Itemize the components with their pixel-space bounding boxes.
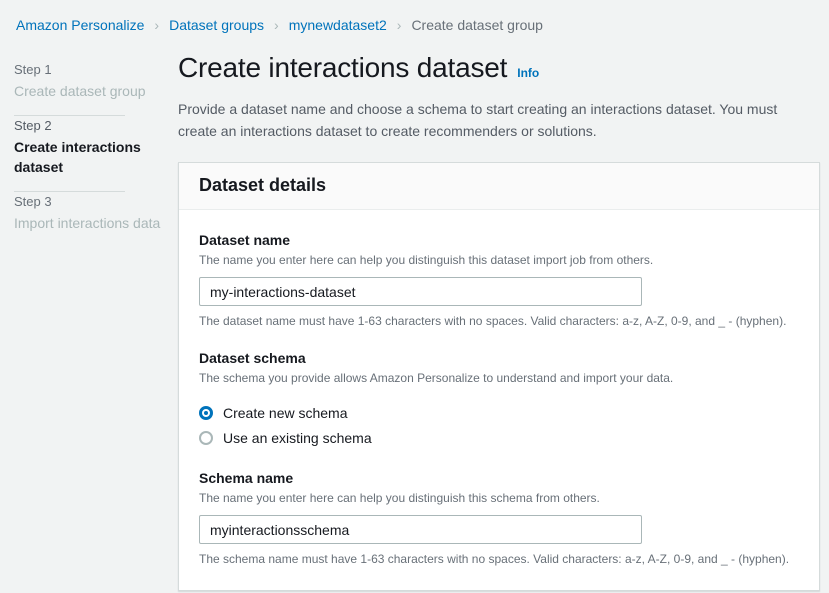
wizard-step-1-number: Step 1 <box>14 60 164 79</box>
radio-selected-icon <box>199 406 213 420</box>
dataset-name-label: Dataset name <box>199 230 799 250</box>
breadcrumb-separator-icon: › <box>154 18 159 32</box>
wizard-step-2-label: Create interactions dataset <box>14 137 164 177</box>
dataset-name-hint: The name you enter here can help you dis… <box>199 251 799 269</box>
wizard-step-1[interactable]: Step 1 Create dataset group <box>14 60 164 115</box>
dataset-details-panel: Dataset details Dataset name The name yo… <box>178 162 820 591</box>
breadcrumb-item-create-dataset-group: Create dataset group <box>411 17 543 33</box>
radio-unselected-icon <box>199 431 213 445</box>
panel-header: Dataset details <box>179 163 819 210</box>
wizard-step-1-label: Create dataset group <box>14 81 164 101</box>
dataset-name-constraint: The dataset name must have 1-63 characte… <box>199 312 799 330</box>
wizard-steps-navigation: Step 1 Create dataset group Step 2 Creat… <box>14 38 164 247</box>
schema-name-field: Schema name The name you enter here can … <box>199 468 799 568</box>
page-title: Create interactions dataset <box>178 52 507 84</box>
breadcrumb: Amazon Personalize › Dataset groups › my… <box>0 0 829 38</box>
dataset-schema-field: Dataset schema The schema you provide al… <box>199 348 799 450</box>
wizard-step-3-label: Import interactions data <box>14 213 164 233</box>
page-title-row: Create interactions dataset Info <box>178 52 815 84</box>
schema-name-label: Schema name <box>199 468 799 488</box>
schema-name-hint: The name you enter here can help you dis… <box>199 489 799 507</box>
radio-use-existing-schema[interactable]: Use an existing schema <box>199 425 799 450</box>
breadcrumb-separator-icon: › <box>274 18 279 32</box>
page-description: Provide a dataset name and choose a sche… <box>178 98 815 142</box>
wizard-step-3-number: Step 3 <box>14 192 164 211</box>
wizard-step-2-number: Step 2 <box>14 116 164 135</box>
radio-create-new-schema-label: Create new schema <box>223 403 348 423</box>
wizard-step-2[interactable]: Step 2 Create interactions dataset <box>14 116 164 191</box>
schema-name-input[interactable] <box>199 515 642 544</box>
page-layout: Step 1 Create dataset group Step 2 Creat… <box>0 38 829 591</box>
radio-create-new-schema[interactable]: Create new schema <box>199 400 799 425</box>
dataset-name-field: Dataset name The name you enter here can… <box>199 230 799 330</box>
radio-use-existing-schema-label: Use an existing schema <box>223 428 372 448</box>
dataset-schema-hint: The schema you provide allows Amazon Per… <box>199 369 799 387</box>
breadcrumb-item-mynewdataset2[interactable]: mynewdataset2 <box>289 17 387 33</box>
dataset-schema-label: Dataset schema <box>199 348 799 368</box>
info-link[interactable]: Info <box>517 66 539 80</box>
wizard-step-3[interactable]: Step 3 Import interactions data <box>14 192 164 247</box>
dataset-name-input[interactable] <box>199 277 642 306</box>
dataset-schema-radio-group: Create new schema Use an existing schema <box>199 400 799 450</box>
panel-title: Dataset details <box>199 175 799 196</box>
breadcrumb-item-amazon-personalize[interactable]: Amazon Personalize <box>16 17 144 33</box>
main-content: Create interactions dataset Info Provide… <box>164 38 829 591</box>
schema-name-constraint: The schema name must have 1-63 character… <box>199 550 799 568</box>
panel-body: Dataset name The name you enter here can… <box>179 210 819 590</box>
breadcrumb-item-dataset-groups[interactable]: Dataset groups <box>169 17 264 33</box>
breadcrumb-separator-icon: › <box>397 18 402 32</box>
